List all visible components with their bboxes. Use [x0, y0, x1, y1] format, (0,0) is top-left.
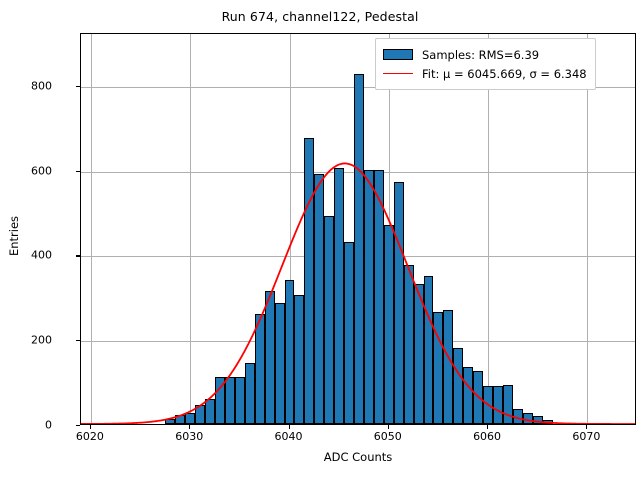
histogram-bar: [384, 225, 394, 424]
histogram-bar: [265, 291, 275, 424]
histogram-bar: [394, 182, 404, 424]
legend-item-samples: Samples: RMS=6.39: [383, 45, 587, 64]
histogram-bar: [374, 170, 384, 424]
y-tick-label: 400: [31, 249, 52, 262]
x-tick-label: 6020: [76, 430, 104, 443]
histogram-bar: [334, 168, 344, 424]
x-tick-mark: [586, 425, 587, 429]
histogram-bar: [165, 419, 175, 424]
histogram-bar: [364, 170, 374, 424]
histogram-bar: [225, 377, 235, 424]
histogram-bar: [473, 371, 483, 424]
histogram-bar: [235, 377, 245, 424]
legend-item-fit: Fit: μ = 6045.669, σ = 6.348: [383, 64, 587, 83]
x-tick-mark: [289, 425, 290, 429]
y-tick-label: 0: [45, 419, 52, 432]
histogram-bar: [275, 303, 285, 424]
histogram-bar: [245, 363, 255, 424]
y-axis-label: Entries: [7, 216, 21, 256]
y-tick-mark: [76, 255, 80, 256]
histogram-bar: [285, 280, 295, 424]
y-tick-label: 800: [31, 79, 52, 92]
x-axis-label: ADC Counts: [80, 450, 636, 464]
histogram-bar: [483, 386, 493, 424]
y-tick-mark: [76, 171, 80, 172]
legend: Samples: RMS=6.39 Fit: μ = 6045.669, σ =…: [375, 38, 596, 90]
histogram-bar: [344, 242, 354, 424]
histogram-bar: [543, 420, 553, 424]
legend-patch-icon: [383, 49, 413, 60]
histogram-bar: [195, 405, 205, 424]
x-tick-label: 6060: [473, 430, 501, 443]
histogram-bar: [523, 413, 533, 424]
y-tick-label: 200: [31, 334, 52, 347]
x-tick-label: 6040: [275, 430, 303, 443]
histogram-bar: [424, 276, 434, 424]
histogram-bar: [463, 367, 473, 424]
chart-figure: Run 674, channel122, Pedestal 0200400600…: [0, 0, 640, 480]
histogram-bar: [404, 265, 414, 424]
legend-label-fit: Fit: μ = 6045.669, σ = 6.348: [422, 67, 587, 81]
legend-line-icon: [383, 73, 413, 74]
x-tick-label: 6030: [175, 430, 203, 443]
histogram-bar: [294, 295, 304, 424]
histogram-bar: [493, 386, 503, 424]
legend-label-samples: Samples: RMS=6.39: [422, 48, 539, 62]
x-tick-label: 6050: [374, 430, 402, 443]
histogram-bar: [443, 310, 453, 424]
histogram-bar: [255, 314, 265, 424]
histogram-bar: [513, 409, 523, 424]
x-tick-mark: [487, 425, 488, 429]
histogram-bar: [453, 348, 463, 424]
histogram-bar: [205, 399, 215, 424]
y-tick-label: 600: [31, 164, 52, 177]
histogram-bar: [175, 415, 185, 424]
histogram-bar: [354, 74, 364, 424]
histogram-bar: [185, 413, 195, 424]
y-tick-mark: [76, 340, 80, 341]
plot-area: [80, 33, 636, 425]
y-tick-mark: [76, 425, 80, 426]
x-tick-label: 6070: [572, 430, 600, 443]
histogram-bar: [324, 216, 334, 424]
histogram-bar: [304, 138, 314, 424]
histogram-bar: [414, 284, 424, 424]
histogram-bar: [433, 312, 443, 424]
x-tick-mark: [388, 425, 389, 429]
histogram-bars: [81, 34, 635, 424]
y-tick-mark: [76, 86, 80, 87]
histogram-bar: [314, 174, 324, 424]
x-tick-mark: [90, 425, 91, 429]
histogram-bar: [503, 385, 513, 424]
chart-title: Run 674, channel122, Pedestal: [0, 9, 640, 24]
x-tick-mark: [189, 425, 190, 429]
histogram-bar: [215, 377, 225, 424]
histogram-bar: [533, 416, 543, 424]
